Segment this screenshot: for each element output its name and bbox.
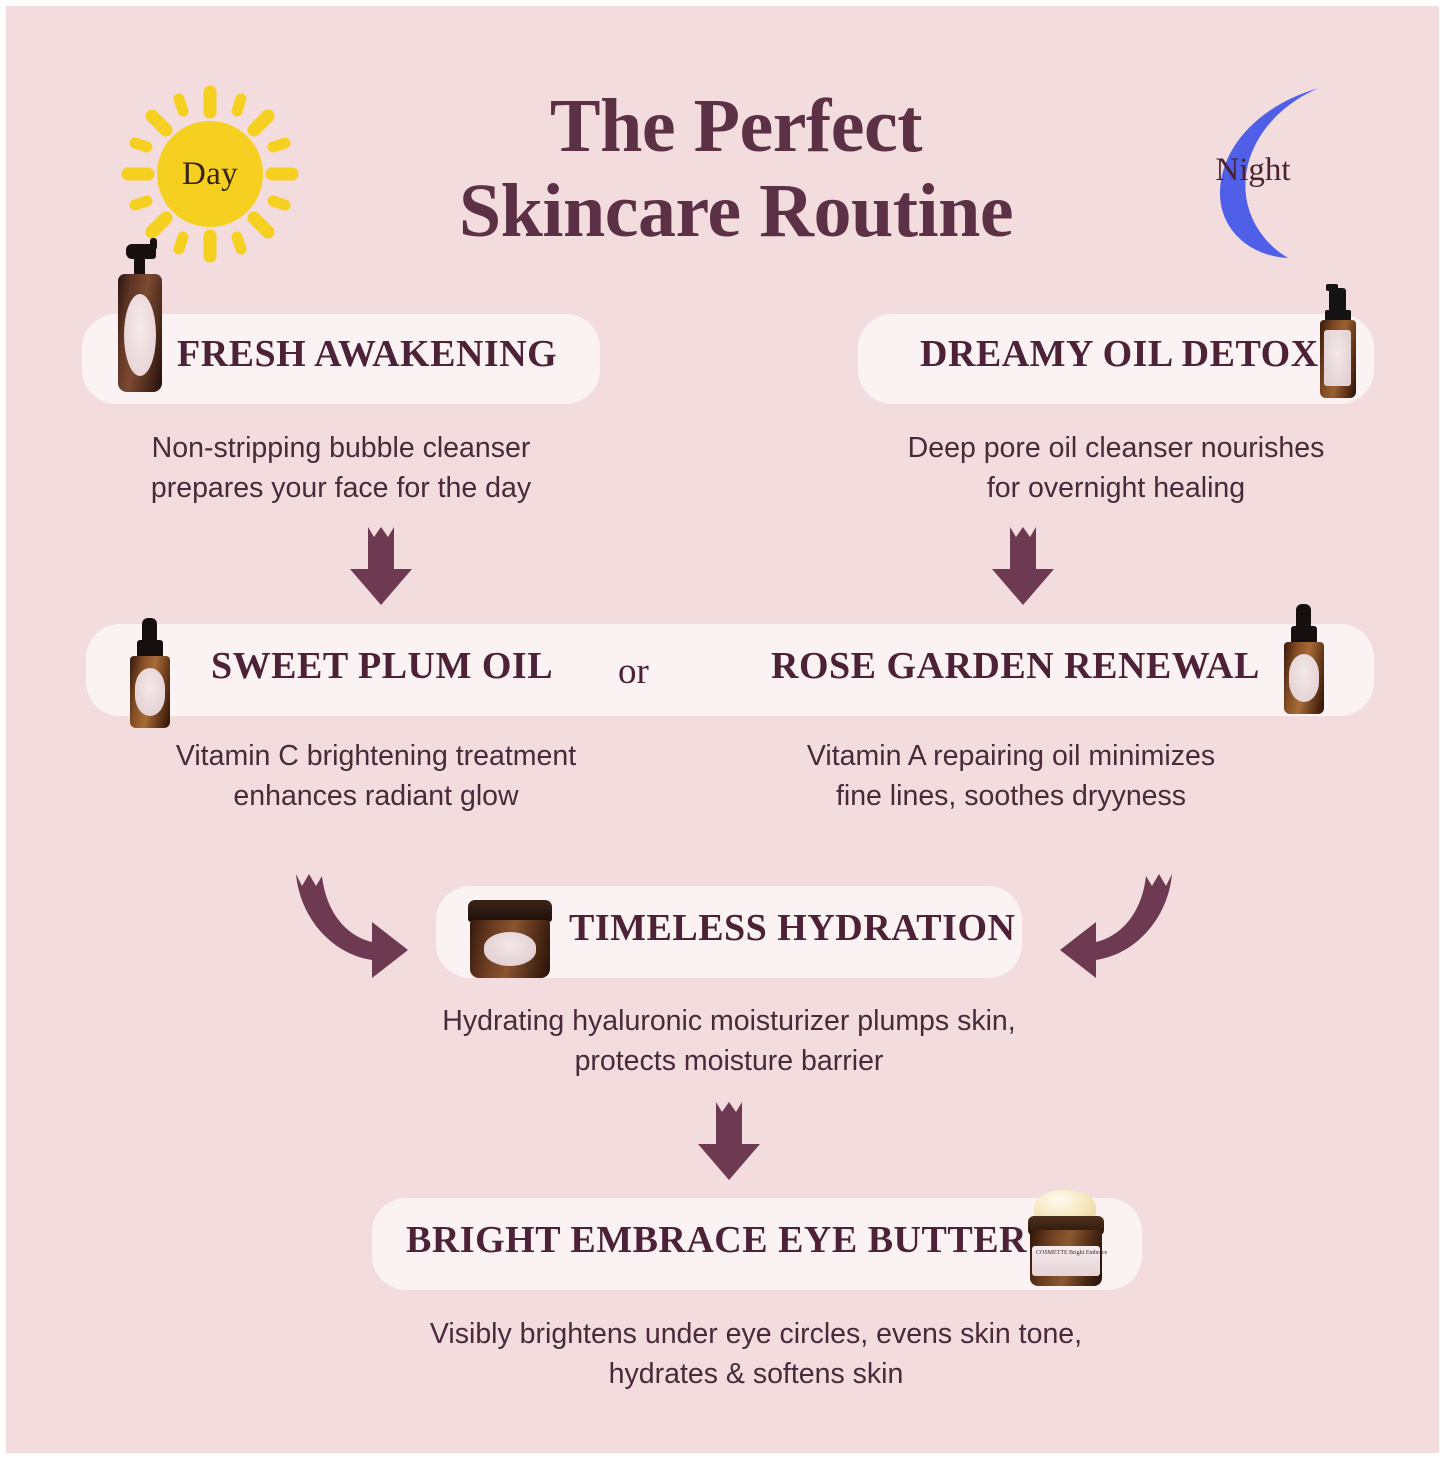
card-treatment-row[interactable]: SWEET PLUM OIL or ROSE GARDEN RENEWAL — [86, 624, 1374, 716]
caption-line-2: for overnight healing — [836, 468, 1396, 508]
caption-rose-garden-renewal: Vitamin A repairing oil minimizes fine l… — [731, 736, 1291, 817]
caption-line-1: Deep pore oil cleanser nourishes — [836, 428, 1396, 468]
card-title-rose-garden-renewal: ROSE GARDEN RENEWAL — [771, 644, 1260, 688]
card-title-timeless-hydration: TIMELESS HYDRATION — [569, 906, 1015, 950]
page-title: The Perfect Skincare Routine — [336, 84, 1136, 254]
caption-line-1: Vitamin A repairing oil minimizes — [731, 736, 1291, 776]
day-badge: Day — [110, 74, 310, 274]
product-image-open-eye-jar: COSMETTE Bright Embrace — [1014, 1188, 1118, 1300]
product-image-spray-bottle — [1312, 278, 1368, 408]
card-title-fresh-awakening: FRESH AWAKENING — [177, 332, 557, 376]
caption-line-2: prepares your face for the day — [66, 468, 616, 508]
caption-timeless-hydration: Hydrating hyaluronic moisturizer plumps … — [344, 1001, 1114, 1082]
title-line-1: The Perfect — [550, 84, 922, 168]
card-dreamy-oil-detox[interactable]: DREAMY OIL DETOX — [858, 314, 1374, 404]
caption-fresh-awakening: Non-stripping bubble cleanser prepares y… — [66, 428, 616, 509]
arrow-down-icon — [684, 1096, 774, 1186]
caption-sweet-plum-oil: Vitamin C brightening treatment enhances… — [101, 736, 651, 817]
arrow-curve-left — [288, 866, 416, 983]
arrow-down-icon — [978, 521, 1068, 611]
product-brand-label: COSMETTE — [1036, 1250, 1068, 1256]
product-image-dropper-bottle-left — [124, 610, 180, 734]
caption-line-2: fine lines, soothes dryyness — [731, 776, 1291, 816]
product-name-label: Bright Embrace — [1069, 1250, 1107, 1256]
infographic-canvas: Day The Perfect Skincare Routine Night F… — [6, 6, 1439, 1453]
caption-line-1: Hydrating hyaluronic moisturizer plumps … — [344, 1001, 1114, 1041]
arrow-down-bottom — [684, 1096, 774, 1191]
curved-arrow-left-icon — [1052, 866, 1180, 978]
night-badge: Night — [1172, 80, 1347, 265]
card-title-dreamy-oil-detox: DREAMY OIL DETOX — [920, 332, 1319, 376]
card-title-bright-embrace-eye-butter: BRIGHT EMBRACE EYE BUTTER — [406, 1218, 1027, 1262]
caption-line-2: enhances radiant glow — [101, 776, 651, 816]
infographic-root: Day The Perfect Skincare Routine Night F… — [0, 0, 1445, 1459]
night-label: Night — [1178, 152, 1328, 189]
product-image-cream-jar — [466, 892, 556, 984]
arrow-down-left — [336, 521, 426, 616]
arrow-down-icon — [336, 521, 426, 611]
caption-line-1: Non-stripping bubble cleanser — [66, 428, 616, 468]
title-line-2: Skincare Routine — [336, 169, 1136, 254]
caption-line-1: Vitamin C brightening treatment — [101, 736, 651, 776]
caption-line-1: Visibly brightens under eye circles, eve… — [306, 1314, 1206, 1354]
product-image-dropper-bottle-right — [1278, 596, 1334, 726]
card-title-sweet-plum-oil: SWEET PLUM OIL — [211, 644, 553, 688]
caption-dreamy-oil-detox: Deep pore oil cleanser nourishes for ove… — [836, 428, 1396, 509]
caption-bright-embrace-eye-butter: Visibly brightens under eye circles, eve… — [306, 1314, 1206, 1395]
caption-line-2: protects moisture barrier — [344, 1041, 1114, 1081]
caption-line-2: hydrates & softens skin — [306, 1354, 1206, 1394]
arrow-curve-right — [1052, 866, 1180, 983]
or-divider-label: or — [618, 650, 649, 693]
curved-arrow-right-icon — [288, 866, 416, 978]
day-label: Day — [110, 74, 310, 274]
arrow-down-right — [978, 521, 1068, 616]
